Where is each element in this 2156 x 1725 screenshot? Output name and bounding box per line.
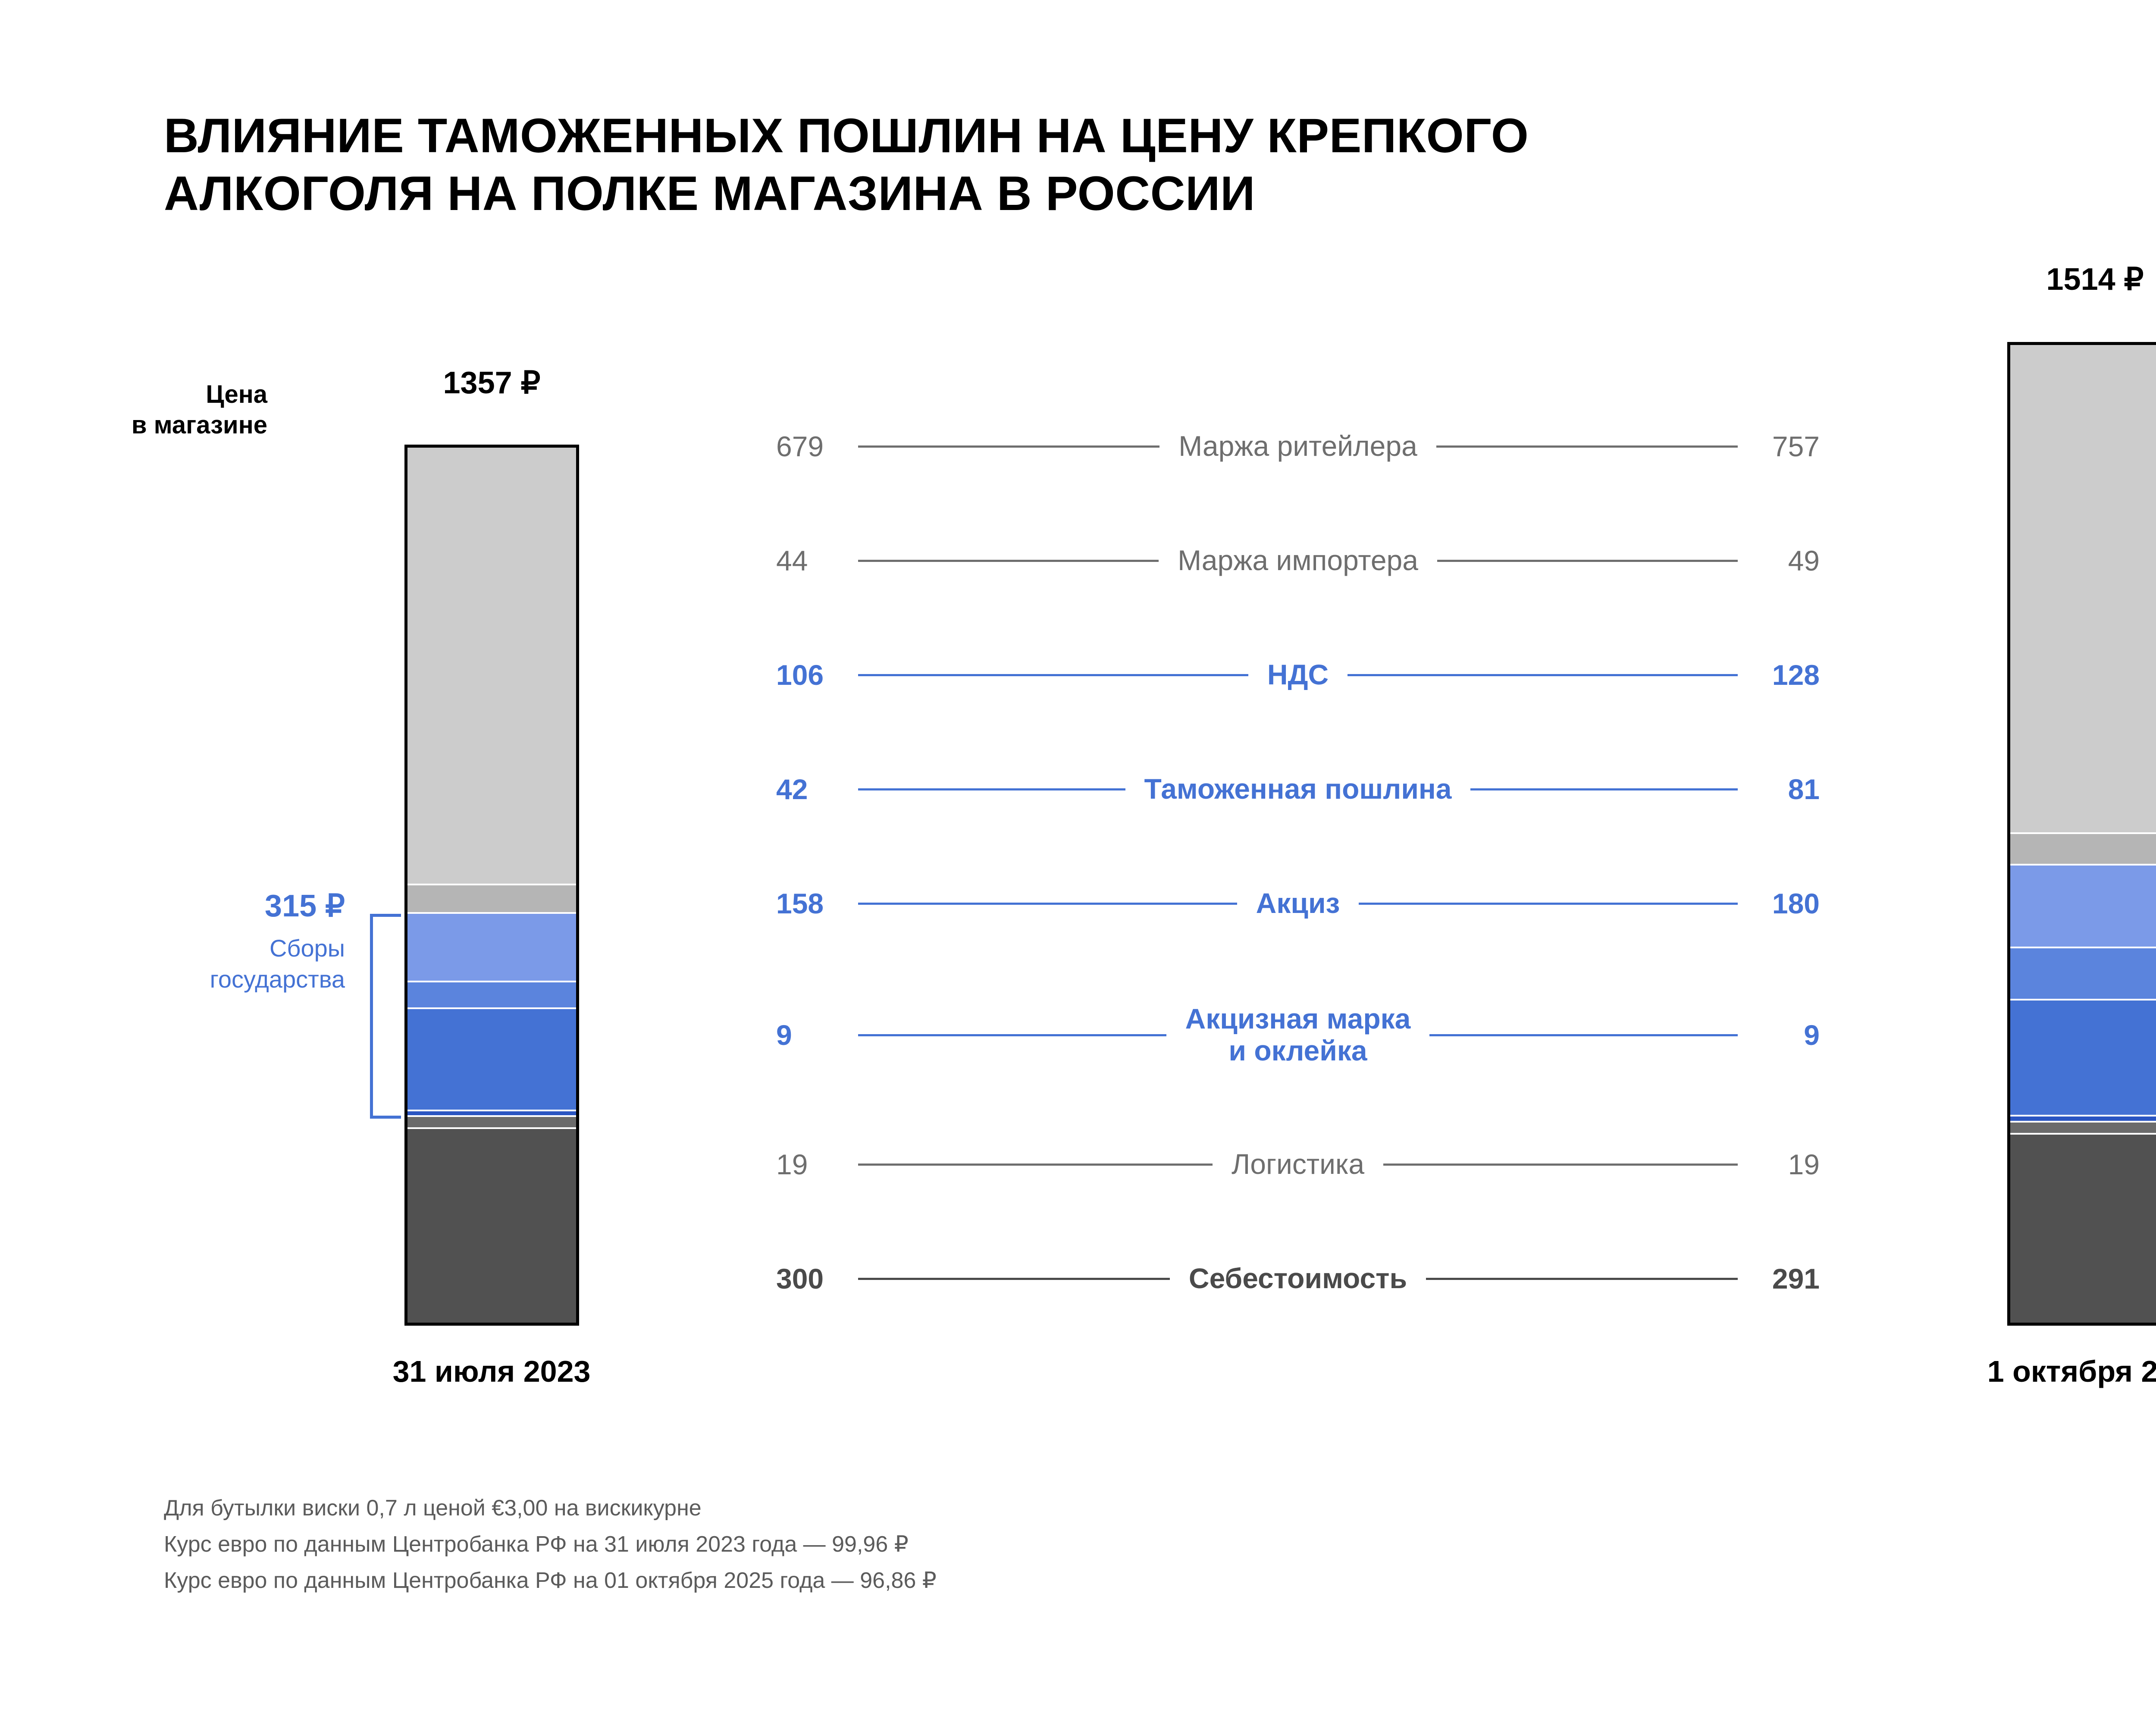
ladder-rule-right [1470,788,1738,790]
ladder-value-right: 81 [1751,775,1820,803]
ladder-label: НДС [1261,659,1335,691]
bar-segment-1 [407,885,576,914]
ladder-value-left: 106 [776,661,845,689]
ladder-rule-left [858,1034,1166,1036]
ladder-label: Таможенная пошлина [1138,773,1458,805]
ladder-label: Маржа ритейлера [1172,430,1423,462]
ladder-value-left: 19 [776,1150,845,1179]
ladder-value-left: 42 [776,775,845,803]
ladder-value-left: 679 [776,432,845,461]
left-bar-date: 31 июля 2023 [319,1354,664,1389]
ladder-rule-left [858,674,1248,676]
ladder-value-right: 9 [1751,1021,1820,1049]
left-bar-total: 1357 ₽ [361,364,622,401]
ladder-value-right: 291 [1751,1264,1820,1293]
page-title: ВЛИЯНИЕ ТАМОЖЕННЫХ ПОШЛИН НА ЦЕНУ КРЕПКО… [164,107,2104,223]
ladder-value-left: 44 [776,546,845,575]
left-state-fee-amount: 315 ₽ [52,886,345,927]
title-line-1: ВЛИЯНИЕ ТАМОЖЕННЫХ ПОШЛИН НА ЦЕНУ КРЕПКО… [164,107,2104,165]
left-state-fee-label: 315 ₽ Сборы государства [52,886,345,995]
right-bar-date: 1 октября 2025 [1919,1354,2156,1389]
ladder-value-right: 19 [1751,1150,1820,1179]
bar-segment-6 [407,1117,576,1129]
left-state-fee-caption: Сборы государства [52,933,345,996]
footnote-line: Курс евро по данным Центробанка РФ на 31… [164,1526,937,1562]
bar-segment-2 [2010,866,2156,948]
ladder-rule-left [858,1164,1213,1166]
bar-segment-5 [2010,1117,2156,1122]
ladder-value-left: 9 [776,1021,845,1049]
ladder-label: Логистика [1225,1148,1370,1180]
right-stacked-bar [2007,342,2156,1326]
footnotes: Для бутылки виски 0,7 л ценой €3,00 на в… [164,1490,937,1599]
ladder-rule-right [1359,903,1738,905]
ladder-rule-left [858,445,1159,448]
bar-segment-7 [2010,1135,2156,1323]
ladder-label-line1: Акцизная марка [1185,1003,1411,1035]
bar-segment-4 [2010,1000,2156,1117]
bar-segment-3 [2010,948,2156,1000]
right-bar-total: 1514 ₽ [1965,261,2156,297]
bar-segment-2 [407,914,576,982]
ladder-rule-right [1383,1164,1738,1166]
ladder-rule-right [1426,1278,1738,1280]
left-state-fee-bracket [370,914,404,1118]
ladder-label: Акциз [1250,888,1346,919]
ladder-label-line2: и оклейка [1228,1035,1367,1066]
ladder-value-left: 158 [776,889,845,918]
left-shelf-price-caption: Цена в магазине [78,379,267,441]
bar-segment-4 [407,1009,576,1111]
ladder-label: Акцизная маркаи оклейка [1179,1003,1417,1067]
bar-segment-6 [2010,1123,2156,1135]
bar-segment-0 [407,448,576,885]
bar-segment-7 [407,1129,576,1323]
ladder-label: Маржа импортера [1172,545,1424,577]
ladder-rule-right [1347,674,1738,676]
ladder-label: Себестоимость [1183,1263,1413,1295]
title-line-2: АЛКОГОЛЯ НА ПОЛКЕ МАГАЗИНА В РОССИИ [164,165,2104,223]
bar-segment-0 [2010,345,2156,834]
ladder-rule-left [858,560,1159,562]
ladder-rule-right [1429,1034,1738,1036]
left-stacked-bar [404,445,579,1326]
ladder-value-right: 49 [1751,546,1820,575]
ladder-value-right: 757 [1751,432,1820,461]
bar-segment-5 [407,1111,576,1117]
ladder-rule-right [1437,560,1738,562]
bar-segment-1 [2010,834,2156,866]
ladder-value-right: 128 [1751,661,1820,689]
ladder-rule-left [858,788,1125,790]
ladder-rule-left [858,903,1237,905]
ladder-value-right: 180 [1751,889,1820,918]
ladder-value-left: 300 [776,1264,845,1293]
bar-segment-3 [407,982,576,1010]
ladder-rule-right [1436,445,1738,448]
footnote-line: Курс евро по данным Центробанка РФ на 01… [164,1562,937,1599]
ladder-rule-left [858,1278,1170,1280]
footnote-line: Для бутылки виски 0,7 л ценой €3,00 на в… [164,1490,937,1526]
